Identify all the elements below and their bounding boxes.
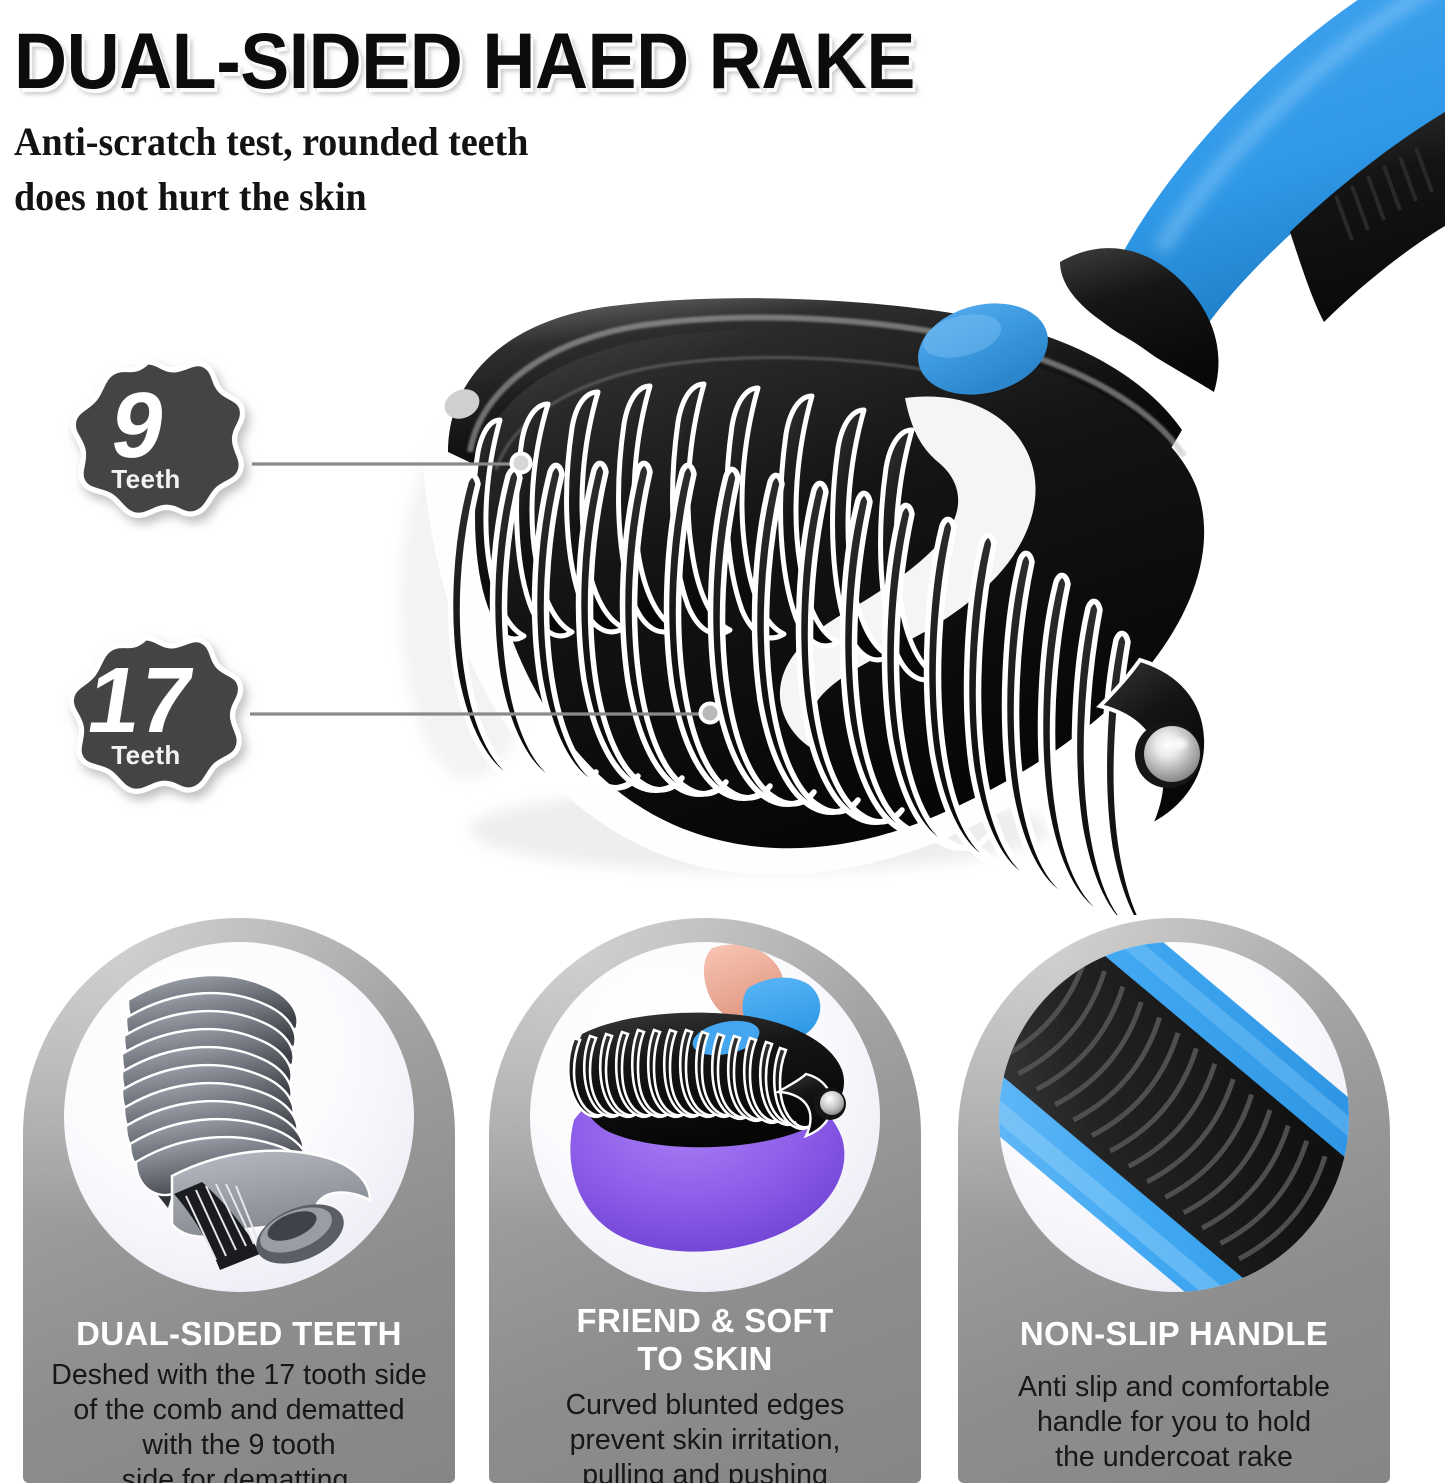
- badge-number: 17: [81, 648, 201, 752]
- card-body-line: with the 9 tooth: [23, 1428, 455, 1463]
- card-photo-dual-sided-teeth: [64, 942, 414, 1292]
- card-photo-non-slip-handle: [999, 942, 1349, 1292]
- feature-card-friend-soft-to-skin: FRIEND & SOFT TO SKIN Curved blunted edg…: [489, 918, 921, 1483]
- subtitle-line-2: does not hurt the skin: [14, 169, 1021, 224]
- leader-line-9-teeth: [250, 440, 550, 480]
- card-body: Curved blunted edges prevent skin irrita…: [489, 1388, 921, 1483]
- feature-cards: DUAL-SIDED TEETH Deshed with the 17 toot…: [0, 918, 1445, 1483]
- card-heading-line: DUAL-SIDED TEETH: [23, 1315, 455, 1353]
- card-body-line: side for dematting,: [23, 1463, 455, 1483]
- card-body-line: Anti slip and comfortable: [958, 1370, 1390, 1405]
- card-body-line: Curved blunted edges: [489, 1388, 921, 1423]
- card-body-line: of the comb and dematted: [23, 1393, 455, 1428]
- hero-product-image: DUAL-SIDED HAED RAKE Anti-scratch test, …: [0, 0, 1445, 915]
- page-subtitle: Anti-scratch test, rounded teeth does no…: [14, 114, 1021, 224]
- card-photo-friend-soft-to-skin: [530, 942, 880, 1292]
- badge-label: Teeth: [111, 740, 180, 770]
- card-body-line: Deshed with the 17 tooth side: [23, 1358, 455, 1393]
- badge-17-teeth: 17 Teeth: [60, 628, 244, 812]
- card-heading: DUAL-SIDED TEETH: [23, 1315, 455, 1353]
- title-block: DUAL-SIDED HAED RAKE Anti-scratch test, …: [14, 24, 1074, 225]
- page-title: DUAL-SIDED HAED RAKE: [14, 24, 1000, 98]
- rivet-chrome: [820, 1091, 844, 1115]
- feature-card-dual-sided-teeth: DUAL-SIDED TEETH Deshed with the 17 toot…: [23, 918, 455, 1483]
- card-heading: FRIEND & SOFT TO SKIN: [489, 1302, 921, 1377]
- card-heading: NON-SLIP HANDLE: [958, 1315, 1390, 1353]
- card-heading-line: TO SKIN: [489, 1340, 921, 1378]
- subtitle-line-1: Anti-scratch test, rounded teeth: [14, 114, 1021, 169]
- card-body-line: the undercoat rake: [958, 1440, 1390, 1475]
- card-heading-line: NON-SLIP HANDLE: [958, 1315, 1390, 1353]
- chrome-rivet: [1135, 722, 1201, 788]
- card-body-line: handle for you to hold: [958, 1405, 1390, 1440]
- badge-9-teeth: 9 Teeth: [62, 352, 246, 536]
- handle-diagonal: [999, 942, 1349, 1292]
- card-body: Deshed with the 17 tooth side of the com…: [23, 1358, 455, 1483]
- badge-label: Teeth: [111, 464, 180, 494]
- leader-line-17-teeth: [248, 690, 748, 730]
- card-body-line: prevent skin irritation,: [489, 1423, 921, 1458]
- card-body-line: pulling and pushing: [489, 1458, 921, 1483]
- card-heading-line: FRIEND & SOFT: [489, 1302, 921, 1340]
- feature-card-non-slip-handle: NON-SLIP HANDLE Anti slip and comfortabl…: [958, 918, 1390, 1483]
- card-body: Anti slip and comfortable handle for you…: [958, 1370, 1390, 1475]
